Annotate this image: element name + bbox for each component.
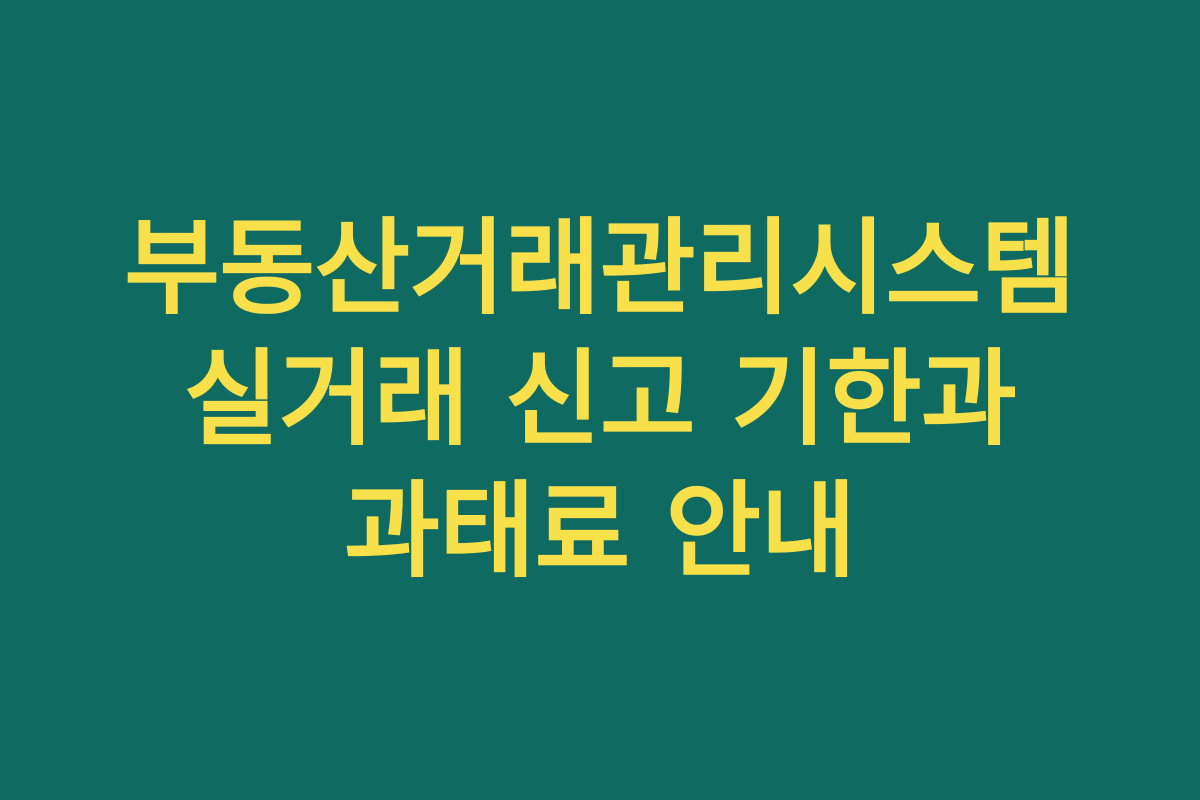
page-title: 부동산거래관리시스템 실거래 신고 기한과 과태료 안내 — [95, 203, 1105, 596]
headline-block: 부동산거래관리시스템 실거래 신고 기한과 과태료 안내 — [95, 203, 1105, 596]
banner-card: 부동산거래관리시스템 실거래 신고 기한과 과태료 안내 — [0, 0, 1200, 800]
